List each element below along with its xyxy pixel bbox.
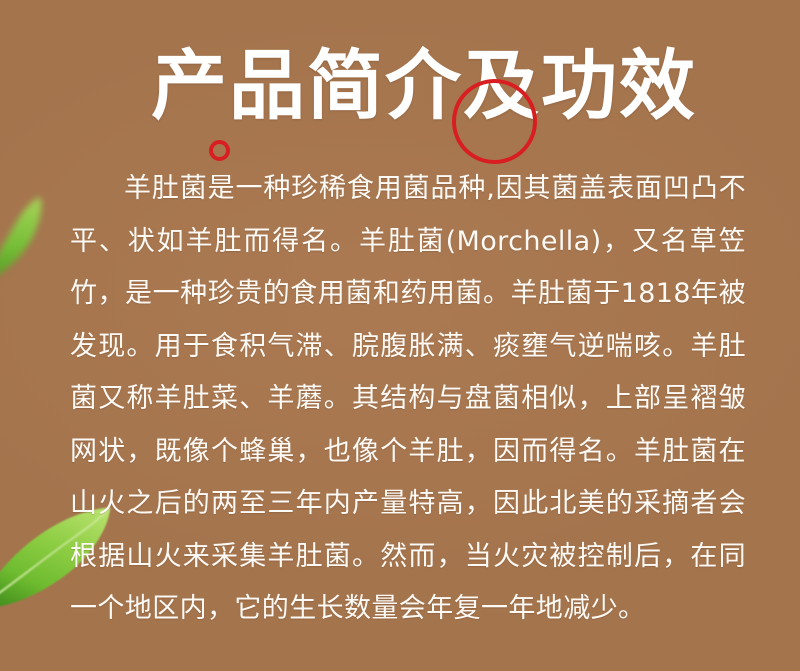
product-description-banner: 产品简介及功效 羊肚菌是一种珍稀食用菌品种,因其菌盖表面凹凸不平、状如羊肚而得名…	[0, 0, 800, 671]
header: 产品简介及功效	[0, 36, 800, 144]
description-paragraph: 羊肚菌是一种珍稀食用菌品种,因其菌盖表面凹凸不平、状如羊肚而得名。羊肚菌(Mor…	[70, 163, 746, 636]
red-ring-annotation-icon	[209, 140, 230, 161]
page-title: 产品简介及功效	[151, 36, 697, 136]
description-section: 羊肚菌是一种珍稀食用菌品种,因其菌盖表面凹凸不平、状如羊肚而得名。羊肚菌(Mor…	[70, 163, 746, 636]
leaf-icon	[0, 195, 66, 289]
